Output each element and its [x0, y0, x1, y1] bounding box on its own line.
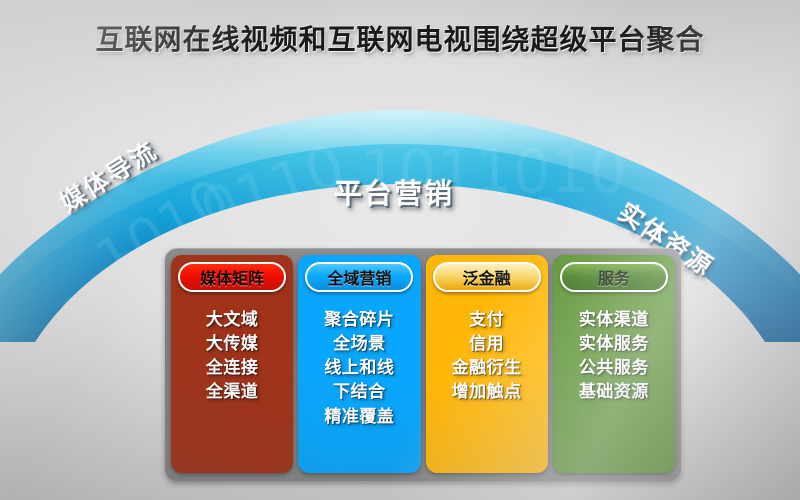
card-header-omni-marketing: 全域营销 — [305, 262, 413, 292]
list-item: 精准覆盖 — [324, 405, 394, 429]
list-item: 全连接 — [206, 356, 259, 380]
card-list-media-matrix: 大文域 大传媒 全连接 全渠道 — [206, 308, 259, 405]
list-item: 聚合碎片 — [324, 308, 394, 332]
list-item: 实体服务 — [579, 332, 649, 356]
card-header-services: 服务 — [560, 262, 668, 292]
list-item: 实体渠道 — [579, 308, 649, 332]
list-item: 全渠道 — [206, 380, 259, 404]
card-services[interactable]: 服务 实体渠道 实体服务 公共服务 基础资源 — [553, 255, 675, 473]
card-list-pan-finance: 支付 信用 金融衍生 增加触点 — [452, 308, 522, 405]
list-item: 下结合 — [324, 380, 394, 404]
slide-canvas: 1010 0110 1011010 1001 0101 110 011 媒体导流… — [0, 0, 800, 500]
list-item: 增加触点 — [452, 380, 522, 404]
list-item: 支付 — [452, 308, 522, 332]
list-item: 公共服务 — [579, 356, 649, 380]
list-item: 基础资源 — [579, 380, 649, 404]
card-omni-marketing[interactable]: 全域营销 聚合碎片 全场景 线上和线 下结合 精准覆盖 — [298, 255, 420, 473]
list-item: 大传媒 — [206, 332, 259, 356]
list-item: 大文域 — [206, 308, 259, 332]
list-item: 金融衍生 — [452, 356, 522, 380]
card-header-pan-finance: 泛金融 — [433, 262, 541, 292]
list-item: 信用 — [452, 332, 522, 356]
card-pan-finance[interactable]: 泛金融 支付 信用 金融衍生 增加触点 — [426, 255, 548, 473]
card-media-matrix[interactable]: 媒体矩阵 大文域 大传媒 全连接 全渠道 — [171, 255, 293, 473]
page-title: 互联网在线视频和互联网电视围绕超级平台聚合 — [0, 18, 800, 58]
card-tray: 媒体矩阵 大文域 大传媒 全连接 全渠道 全域营销 聚合碎片 全场景 线上和线 … — [165, 248, 681, 481]
card-list-services: 实体渠道 实体服务 公共服务 基础资源 — [579, 308, 649, 405]
card-header-media-matrix: 媒体矩阵 — [178, 262, 286, 292]
arc-label-center: 平台营销 — [334, 172, 454, 212]
list-item: 全场景 — [324, 332, 394, 356]
list-item: 线上和线 — [324, 356, 394, 380]
card-list-omni-marketing: 聚合碎片 全场景 线上和线 下结合 精准覆盖 — [324, 308, 394, 429]
